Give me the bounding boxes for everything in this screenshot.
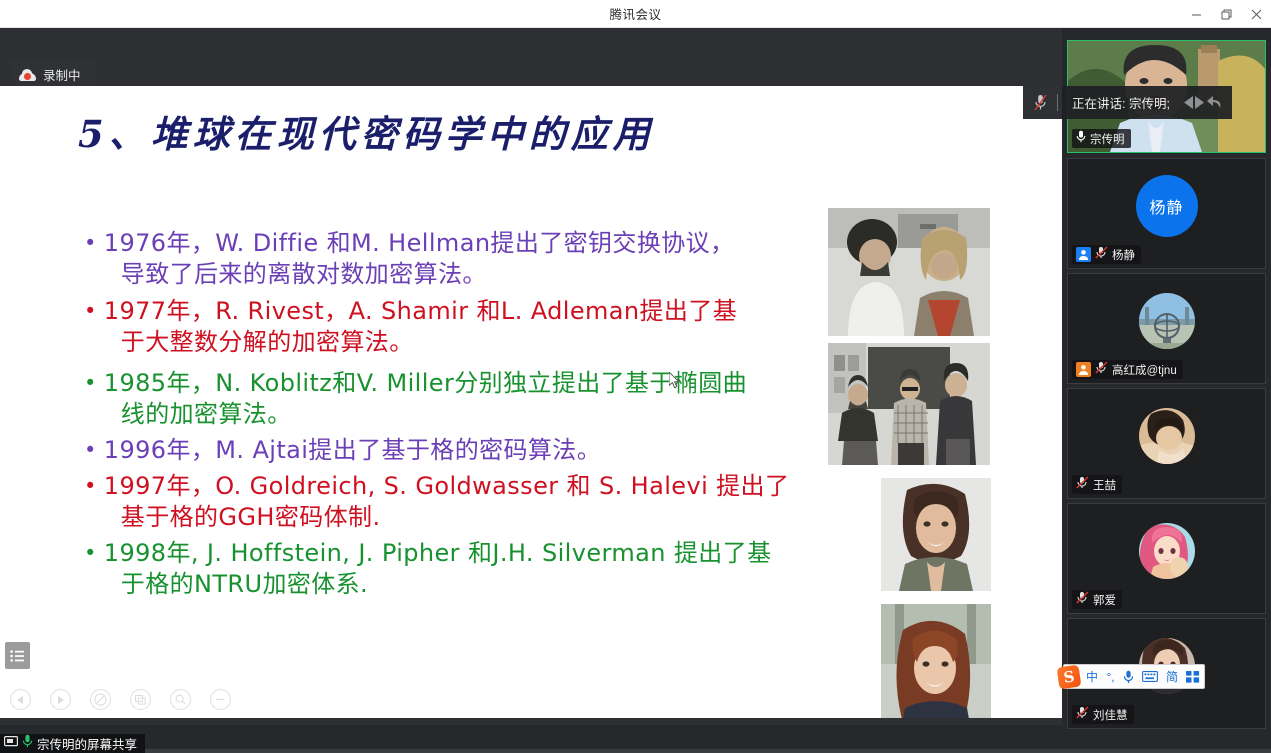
bullet-text: 1996年，M. Ajtai提出了基于格的密码算法。 <box>104 435 601 466</box>
photo-image <box>881 604 991 718</box>
participant-tile[interactable]: 郭爱 <box>1067 503 1266 614</box>
pen-pointer-button[interactable] <box>90 689 111 710</box>
presentation-slide[interactable]: 5、堆球在现代密码学中的应用 • 1976年，W. Diffie 和M. Hel… <box>0 86 1062 718</box>
avatar-photo <box>1139 523 1195 579</box>
ellipsis-icon <box>215 697 226 702</box>
photo-female-researcher-1 <box>881 478 991 591</box>
participant-name-chip: 杨静 <box>1072 245 1141 264</box>
photo-female-researcher-2 <box>881 604 991 718</box>
avatar-photo <box>1139 408 1195 464</box>
meeting-body: 录制中 5、堆球在现代密码学中的应用 • 1976年，W. Diffie 和M.… <box>0 28 1271 753</box>
participant-name-chip: 刘佳慧 <box>1072 705 1134 724</box>
participant-tile[interactable]: 王喆 <box>1067 388 1266 499</box>
minimize-icon <box>1191 9 1202 20</box>
photo-image <box>881 478 991 591</box>
ime-soft-keyboard[interactable] <box>1138 666 1162 688</box>
ime-punctuation-toggle[interactable]: °, <box>1102 666 1119 688</box>
avatar <box>1139 408 1195 464</box>
keyboard-icon <box>1142 671 1158 682</box>
bullet-line-1: 1985年，N. Koblitz和V. Miller分别独立提出了基于椭圆曲 <box>104 369 747 397</box>
participant-name: 刘佳慧 <box>1093 707 1128 723</box>
list-item: • 1996年，M. Ajtai提出了基于格的密码算法。 <box>84 435 874 466</box>
active-speaker-banner: 正在讲话: 宗传明; <box>1023 86 1232 119</box>
participant-name: 杨静 <box>1112 247 1135 263</box>
recording-label: 录制中 <box>43 65 81 84</box>
bullet-text: 1976年，W. Diffie 和M. Hellman提出了密钥交换协议， 导致… <box>104 228 735 290</box>
slide-title: 5、堆球在现代密码学中的应用 <box>78 104 655 158</box>
bullet-line-2: 于大整数分解的加密算法。 <box>104 327 737 358</box>
tencent-meeting-window: 腾讯会议 <box>0 0 1271 753</box>
photo-image <box>828 343 990 465</box>
photo-image <box>828 208 990 336</box>
bullet-line-1: 1996年，M. Ajtai提出了基于格的密码算法。 <box>104 436 601 464</box>
participant-name: 王喆 <box>1093 477 1116 493</box>
slide-bullet-list: • 1976年，W. Diffie 和M. Hellman提出了密钥交换协议， … <box>84 228 874 600</box>
bullet-line-1: 1997年，O. Goldreich, S. Goldwasser 和 S. H… <box>104 472 790 500</box>
mic-muted-icon <box>1023 94 1057 111</box>
list-item: • 1998年, J. Hoffstein, J. Pipher 和J.H. S… <box>84 538 874 600</box>
bullet-line-1: 1998年, J. Hoffstein, J. Pipher 和J.H. Sil… <box>104 539 772 567</box>
bullet-line-2: 线的加密算法。 <box>104 399 747 430</box>
mouse-cursor <box>669 372 681 390</box>
bullet-line-2: 导致了后来的离散对数加密算法。 <box>104 259 735 290</box>
list-item: • 1977年，R. Rivest，A. Shamir 和L. Adleman提… <box>84 296 874 358</box>
bullet-text: 1998年, J. Hoffstein, J. Pipher 和J.H. Sil… <box>104 538 772 600</box>
cloud-record-icon <box>19 68 36 81</box>
bullet-text: 1985年，N. Koblitz和V. Miller分别独立提出了基于椭圆曲 线… <box>104 368 747 430</box>
pen-slash-icon <box>94 693 107 706</box>
avatar: 杨静 <box>1136 175 1198 237</box>
share-status-text: 宗传明的屏幕共享 <box>37 734 137 753</box>
close-button[interactable] <box>1241 0 1271 28</box>
zoom-button[interactable] <box>170 689 191 710</box>
bullet-line-2: 基于格的GGH密码体制. <box>104 502 790 533</box>
participant-tile[interactable]: 杨静 <box>1067 158 1266 269</box>
participant-name: 郭爱 <box>1093 592 1116 608</box>
photo-diffie-hellman <box>828 208 990 336</box>
collapse-arrows-icon[interactable] <box>1184 95 1232 110</box>
bullet-marker: • <box>84 471 104 502</box>
title-bar: 腾讯会议 <box>0 0 1271 28</box>
monitor-icon <box>4 735 18 753</box>
participant-name-chip: 郭爱 <box>1072 590 1122 609</box>
ime-lang-toggle[interactable]: 中 <box>1082 666 1102 688</box>
participant-name-chip: 王喆 <box>1072 475 1122 494</box>
slide-list-icon <box>10 650 25 662</box>
more-options-button[interactable] <box>210 689 231 710</box>
bullet-line-1: 1976年，W. Diffie 和M. Hellman提出了密钥交换协议， <box>104 229 735 257</box>
list-item: • 1976年，W. Diffie 和M. Hellman提出了密钥交换协议， … <box>84 228 874 290</box>
mic-muted-icon <box>1076 476 1089 494</box>
participant-name-chip: 高红成@tjnu <box>1072 360 1183 379</box>
restore-button[interactable] <box>1211 0 1241 28</box>
slideshow-toolbar <box>10 689 231 710</box>
avatar <box>1139 523 1195 579</box>
bullet-marker: • <box>84 538 104 569</box>
bullet-line-2: 于格的NTRU加密体系. <box>104 569 772 600</box>
participant-name: 宗传明 <box>1090 131 1125 147</box>
mic-muted-icon <box>1095 246 1108 264</box>
mic-on-icon <box>1076 130 1086 148</box>
minimize-button[interactable] <box>1181 0 1211 28</box>
toolbox-grid-icon <box>1186 671 1200 683</box>
mic-on-green-icon <box>22 734 33 753</box>
photo-rivest-shamir-adleman <box>828 343 990 465</box>
bullet-marker: • <box>84 228 104 259</box>
participant-name: 高红成@tjnu <box>1112 362 1177 378</box>
magnifier-icon <box>175 694 186 705</box>
triangle-right-icon <box>57 696 64 704</box>
host-badge-icon <box>1076 247 1091 262</box>
avatar-photo <box>1139 293 1195 349</box>
window-controls <box>1181 0 1271 28</box>
bullet-text: 1997年，O. Goldreich, S. Goldwasser 和 S. H… <box>104 471 790 533</box>
ime-simplified-toggle[interactable]: 简 <box>1162 666 1182 688</box>
previous-slide-button[interactable] <box>10 689 31 710</box>
close-icon <box>1251 9 1262 20</box>
sogou-logo-icon[interactable]: S <box>1057 664 1082 689</box>
bullet-marker: • <box>84 368 104 399</box>
triangle-left-icon <box>17 696 24 704</box>
active-speaker-text: 正在讲话: 宗传明; <box>1058 93 1184 112</box>
bottom-scrollbar[interactable] <box>0 749 1271 753</box>
list-item: • 1985年，N. Koblitz和V. Miller分别独立提出了基于椭圆曲… <box>84 368 874 430</box>
restore-icon <box>1221 9 1232 20</box>
avatar <box>1139 293 1195 349</box>
ime-toolbar[interactable]: S 中 °, 简 <box>1063 664 1205 689</box>
slide-list-button[interactable] <box>5 642 30 669</box>
list-item: • 1997年，O. Goldreich, S. Goldwasser 和 S.… <box>84 471 874 533</box>
screen-share-status: 宗传明的屏幕共享 <box>0 734 145 753</box>
bullet-text: 1977年，R. Rivest，A. Shamir 和L. Adleman提出了… <box>104 296 737 358</box>
mic-muted-icon <box>1076 706 1089 724</box>
bullet-marker: • <box>84 435 104 466</box>
bullet-marker: • <box>84 296 104 327</box>
all-slides-button[interactable] <box>130 689 151 710</box>
shared-screen-area: 录制中 5、堆球在现代密码学中的应用 • 1976年，W. Diffie 和M.… <box>0 28 1062 725</box>
avatar-initials: 杨静 <box>1149 194 1183 218</box>
bullet-line-1: 1977年，R. Rivest，A. Shamir 和L. Adleman提出了… <box>104 297 737 325</box>
next-slide-button[interactable] <box>50 689 71 710</box>
ime-voice-input[interactable] <box>1119 666 1138 688</box>
microphone-icon <box>1123 670 1134 684</box>
ime-toolbox[interactable] <box>1182 666 1204 688</box>
recording-indicator[interactable]: 录制中 <box>10 59 95 89</box>
participant-video-strip[interactable]: 宗传明 杨静 <box>1062 28 1271 753</box>
co-host-badge-icon <box>1076 362 1091 377</box>
participant-tile[interactable]: 高红成@tjnu <box>1067 273 1266 384</box>
grid-slides-icon <box>135 695 146 705</box>
mic-muted-icon <box>1076 591 1089 609</box>
window-title: 腾讯会议 <box>609 4 661 23</box>
mic-muted-icon <box>1095 361 1108 379</box>
participant-name-chip: 宗传明 <box>1072 129 1131 148</box>
